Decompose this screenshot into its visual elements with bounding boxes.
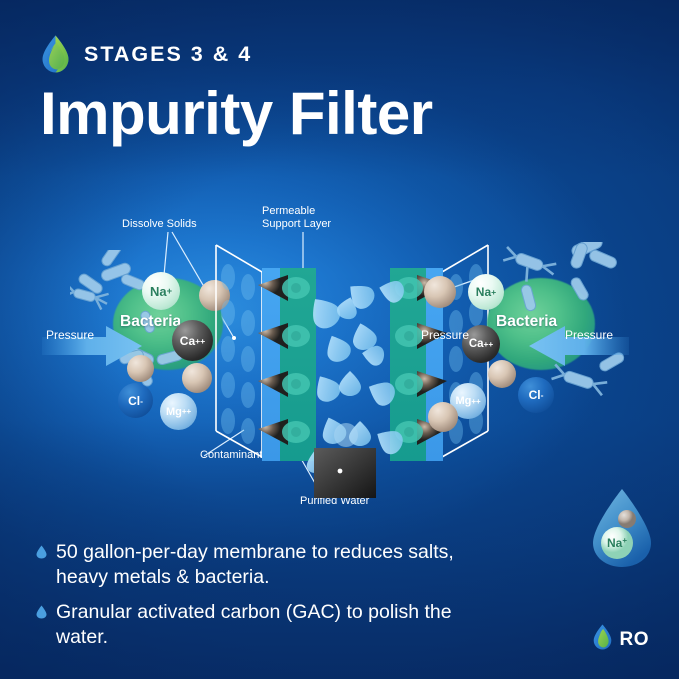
ion-cl-right: Cl- <box>518 377 554 413</box>
bullet-list: 50 gallon-per-day membrane to reduces sa… <box>36 540 506 659</box>
list-item: 50 gallon-per-day membrane to reduces sa… <box>36 540 506 591</box>
list-item: Granular activated carbon (GAC) to polis… <box>36 600 506 651</box>
pressure-label-left: Pressure <box>46 328 94 342</box>
ion-na-left-label: Na+ <box>142 272 180 310</box>
purified-water-box <box>314 448 376 498</box>
stage-row: STAGES 3 & 4 <box>40 30 640 78</box>
water-drop-bullet-icon <box>36 605 47 619</box>
filter-diagram: Dissolve Solids Permeable Support Layer … <box>0 180 679 530</box>
pressure-label-right: Pressure <box>565 328 613 342</box>
ion-cl-left: Cl- <box>118 383 153 418</box>
contaminant-sphere <box>424 276 456 308</box>
ion-mg-left: Mg++ <box>160 393 197 430</box>
footer-brand: RO <box>592 624 650 655</box>
header: STAGES 3 & 4 Impurity Filter <box>40 30 640 145</box>
permeable-line-1: Permeable <box>262 205 315 217</box>
brand-label: RO <box>620 629 650 651</box>
pressure-label-mid: Pressure <box>421 328 469 342</box>
label-permeable-support-layer: Permeable Support Layer <box>262 205 331 231</box>
bullet-text: 50 gallon-per-day membrane to reduces sa… <box>56 540 506 591</box>
contaminant-sphere <box>428 402 458 432</box>
contaminant-sphere <box>182 363 212 393</box>
ion-na-left: Na+ <box>142 272 180 310</box>
permeable-line-2: Support Layer <box>262 218 331 230</box>
water-drop-icon: Na+ <box>591 487 653 569</box>
infographic-canvas: STAGES 3 & 4 Impurity Filter Dissolv <box>0 0 679 679</box>
ion-ca-left-label: Ca++ <box>172 320 213 361</box>
stage-label: STAGES 3 & 4 <box>84 42 252 67</box>
ion-na-right: Na+ <box>468 274 504 310</box>
water-drop-logo-icon <box>592 624 613 655</box>
water-drop-logo-icon <box>40 35 71 73</box>
label-dissolve-solids: Dissolve Solids <box>122 218 197 231</box>
contaminant-sphere <box>488 360 516 388</box>
ion-na-right-label: Na+ <box>468 274 504 310</box>
ion-ca-left: Ca++ <box>172 320 213 361</box>
ion-mg-left-label: Mg++ <box>160 393 197 430</box>
ion-cl-left-label: Cl- <box>118 383 153 418</box>
water-drop-bullet-icon <box>36 545 47 559</box>
page-title: Impurity Filter <box>40 82 640 145</box>
ion-cl-right-label: Cl- <box>518 377 554 413</box>
bullet-text: Granular activated carbon (GAC) to polis… <box>56 600 506 651</box>
